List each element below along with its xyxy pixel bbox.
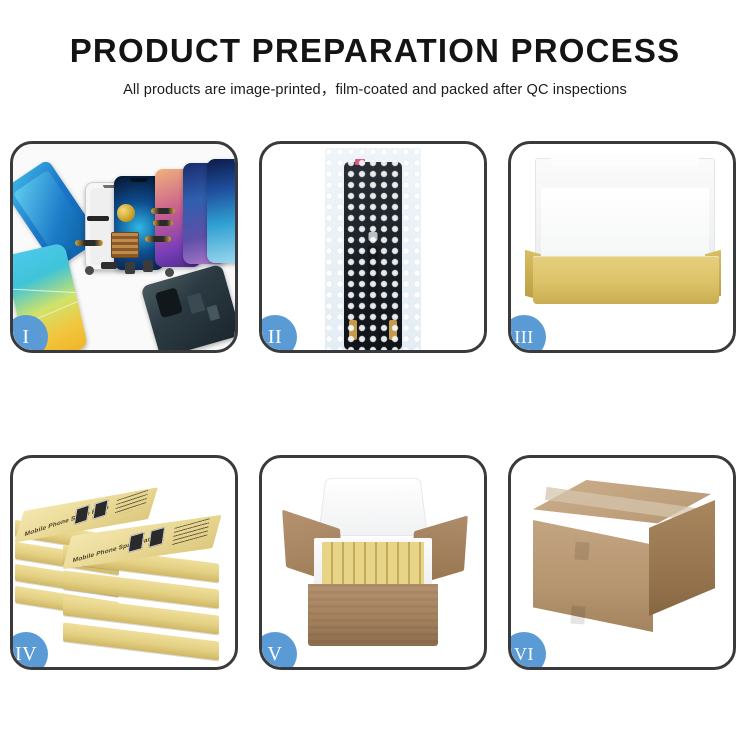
spare-part-flex-cable-icon bbox=[153, 220, 173, 226]
spare-part-flex-cable-icon bbox=[145, 236, 171, 242]
spare-part-flex-cable-icon bbox=[151, 208, 175, 214]
step-2-image: II bbox=[262, 144, 484, 350]
spare-part-coil-icon bbox=[117, 204, 135, 222]
spare-part-camera-icon bbox=[125, 262, 135, 274]
page-title: PRODUCT PREPARATION PROCESS bbox=[0, 34, 750, 69]
notch-icon bbox=[130, 178, 148, 182]
process-steps-grid: I II bbox=[10, 141, 740, 670]
spare-part-vibrator-icon bbox=[143, 260, 153, 272]
step-1-image: I bbox=[13, 144, 235, 350]
step-panel-6: VI bbox=[508, 455, 736, 670]
step-6-image: VI bbox=[511, 458, 733, 667]
step-panel-4: Mobile Phone Spare Parts Mobile Phone Sp… bbox=[10, 455, 238, 670]
carton-front-face-icon bbox=[533, 520, 653, 632]
page-subtitle: All products are image-printed，film-coat… bbox=[0, 78, 750, 99]
carton-seam-icon bbox=[570, 606, 585, 625]
packed-yellow-boxes-icon bbox=[322, 542, 424, 584]
box-print-lines-icon bbox=[114, 490, 148, 516]
step-panel-3: III bbox=[508, 141, 736, 353]
sealed-carton-icon bbox=[531, 480, 717, 650]
box-print-screen-icon bbox=[128, 532, 145, 553]
spare-part-copper-pad-icon bbox=[111, 232, 139, 258]
step-panel-1: I bbox=[10, 141, 238, 353]
step-4-image: Mobile Phone Spare Parts Mobile Phone Sp… bbox=[13, 458, 235, 667]
product-preparation-infographic: PRODUCT PREPARATION PROCESS All products… bbox=[0, 0, 750, 750]
carton-body-icon bbox=[308, 584, 438, 646]
yellow-box-front-icon bbox=[533, 256, 719, 304]
step-3-image: III bbox=[511, 144, 733, 350]
stacked-boxes-icon: Mobile Phone Spare Parts Mobile Phone Sp… bbox=[15, 482, 233, 658]
spare-part-flex-cable-icon bbox=[75, 240, 103, 246]
box-print-screen-icon bbox=[92, 499, 108, 520]
spare-part-speaker-icon bbox=[101, 262, 117, 269]
box-print-screen-icon bbox=[74, 504, 90, 525]
box-print-screen-icon bbox=[148, 527, 165, 548]
bubble-wrap-bag-icon bbox=[325, 148, 421, 350]
box-print-lines-icon bbox=[172, 518, 210, 546]
step-panel-2: II bbox=[259, 141, 487, 353]
header: PRODUCT PREPARATION PROCESS All products… bbox=[0, 0, 750, 99]
phone-screen-navy-icon bbox=[207, 159, 235, 263]
bubble-texture-icon bbox=[325, 148, 421, 350]
step-panel-5: V bbox=[259, 455, 487, 670]
spare-part-button-icon bbox=[85, 266, 94, 275]
spare-part-bar-icon bbox=[87, 216, 109, 221]
step-5-image: V bbox=[262, 458, 484, 667]
spare-part-screw-icon bbox=[165, 268, 174, 277]
carton-seam-icon bbox=[574, 542, 589, 561]
